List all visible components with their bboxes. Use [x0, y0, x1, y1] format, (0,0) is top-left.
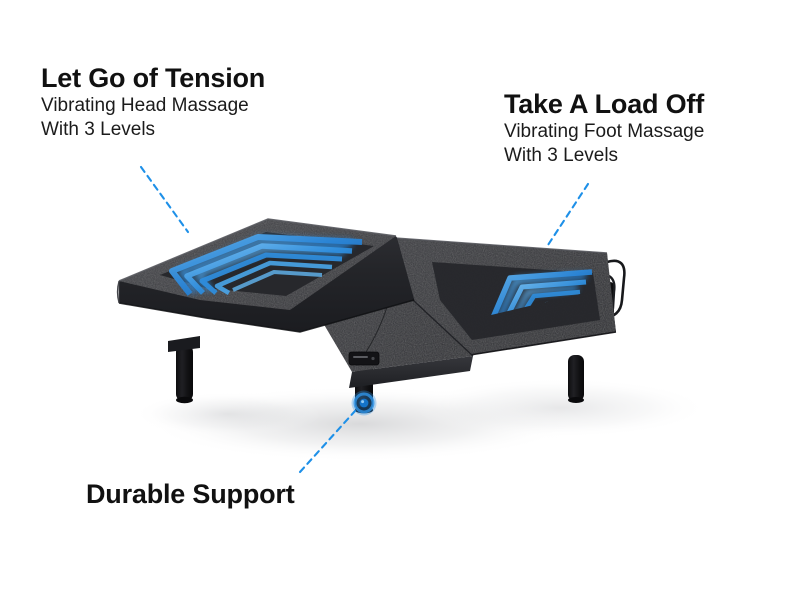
callout-head-headline: Let Go of Tension	[41, 62, 265, 94]
leader-line-head	[141, 167, 188, 232]
callout-durable-support: Durable Support	[86, 478, 295, 510]
floor-shadow	[133, 378, 710, 462]
infographic-canvas: Let Go of Tension Vibrating Head Massage…	[0, 0, 800, 600]
leg-front-left	[168, 336, 200, 403]
callout-foot-headline: Take A Load Off	[504, 88, 704, 120]
support-target-marker	[352, 391, 377, 416]
callout-foot-subline-2: With 3 Levels	[504, 144, 704, 168]
callout-support-headline: Durable Support	[86, 478, 295, 510]
callout-head-subline-1: Vibrating Head Massage	[41, 94, 265, 118]
control-box	[349, 352, 379, 365]
leg-front-right	[568, 355, 584, 403]
callout-foot-subline-1: Vibrating Foot Massage	[504, 120, 704, 144]
callout-head-subline-2: With 3 Levels	[41, 118, 265, 142]
callout-head-massage: Let Go of Tension Vibrating Head Massage…	[41, 62, 265, 142]
callout-foot-massage: Take A Load Off Vibrating Foot Massage W…	[504, 88, 704, 168]
leader-line-foot	[548, 184, 588, 245]
